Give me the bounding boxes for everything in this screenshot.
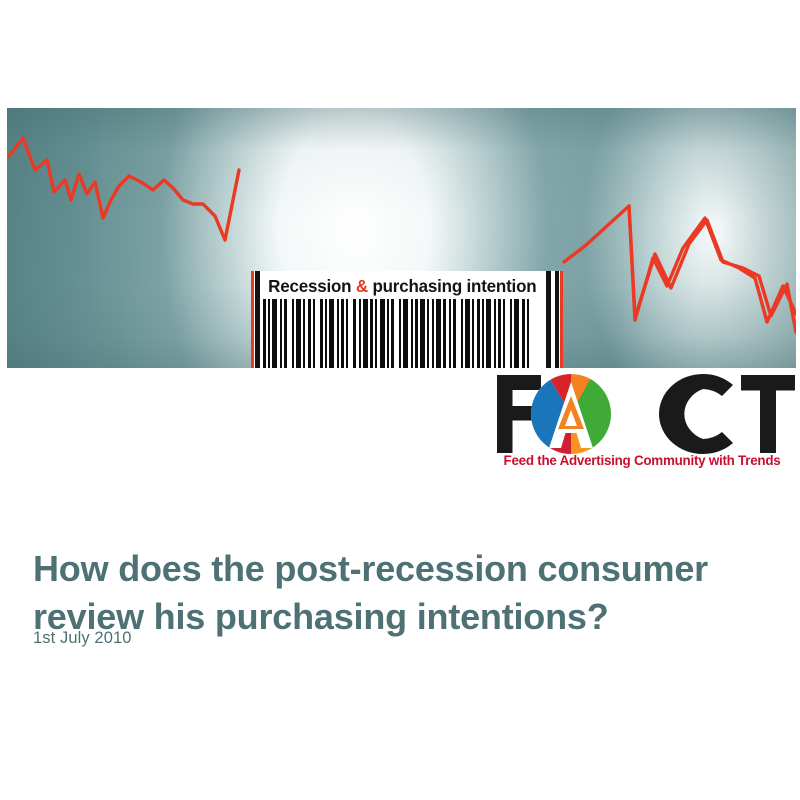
fact-tagline: Feed the Advertising Community with Tren… bbox=[489, 453, 795, 468]
barcode-bar bbox=[341, 299, 344, 368]
barcode-bar bbox=[308, 299, 311, 368]
barcode-bar bbox=[391, 299, 394, 368]
barcode-bar bbox=[337, 299, 339, 368]
line-series-left bbox=[9, 138, 239, 240]
barcode-bar bbox=[477, 299, 480, 368]
headline-line-2: review his purchasing intentions? bbox=[33, 593, 763, 641]
barcode-bar bbox=[359, 299, 361, 368]
barcode-bar bbox=[453, 299, 456, 368]
barcode-bar bbox=[503, 299, 505, 368]
barcode-bar bbox=[346, 299, 348, 368]
barcode-left-red-edge bbox=[251, 271, 254, 368]
barcode-bar bbox=[363, 299, 368, 368]
barcode-bar bbox=[375, 299, 377, 368]
barcode-label: Recession & purchasing intention bbox=[263, 273, 541, 299]
headline-line-1: How does the post-recession consumer bbox=[33, 548, 708, 589]
barcode-guard-bar-right-outer bbox=[546, 271, 551, 368]
barcode-bar bbox=[263, 299, 266, 368]
barcode-bar bbox=[494, 299, 496, 368]
barcode-bar bbox=[296, 299, 301, 368]
barcode-label-after: purchasing intention bbox=[368, 276, 537, 296]
barcode-right-red-edge bbox=[560, 271, 563, 368]
barcode-bar bbox=[284, 299, 287, 368]
logo-letter-a-circle bbox=[531, 374, 611, 454]
barcode-bar bbox=[272, 299, 277, 368]
barcode-label-ampersand: & bbox=[356, 276, 368, 296]
barcode-bar bbox=[465, 299, 470, 368]
fact-wordmark bbox=[489, 370, 795, 456]
barcode-bar bbox=[292, 299, 294, 368]
barcode-bar bbox=[527, 299, 529, 368]
barcode-label-before: Recession bbox=[268, 276, 356, 296]
barcode-bar bbox=[411, 299, 413, 368]
barcode-bar-field bbox=[263, 299, 541, 368]
barcode-bar bbox=[443, 299, 446, 368]
slide-canvas: Recession & purchasing intention bbox=[0, 0, 800, 800]
page-title: How does the post-recession consumer rev… bbox=[33, 545, 763, 641]
barcode-bar bbox=[353, 299, 356, 368]
barcode-bar bbox=[329, 299, 334, 368]
barcode-bar bbox=[436, 299, 441, 368]
barcode-bar bbox=[420, 299, 425, 368]
barcode-bar bbox=[482, 299, 484, 368]
barcode-bar bbox=[399, 299, 401, 368]
barcode-bar bbox=[486, 299, 491, 368]
barcode-bar bbox=[514, 299, 519, 368]
barcode-bar bbox=[432, 299, 434, 368]
barcode-bar bbox=[522, 299, 525, 368]
slide-date: 1st July 2010 bbox=[33, 629, 132, 648]
hero-banner: Recession & purchasing intention bbox=[7, 108, 796, 368]
barcode-bar bbox=[498, 299, 501, 368]
logo-letter-t bbox=[741, 375, 795, 453]
barcode-bar bbox=[320, 299, 323, 368]
barcode-bar bbox=[510, 299, 512, 368]
fact-logo: Feed the Advertising Community with Tren… bbox=[489, 370, 795, 478]
barcode-guard-bar-right-inner bbox=[555, 271, 559, 368]
barcode-bar bbox=[280, 299, 282, 368]
barcode-bar bbox=[387, 299, 389, 368]
line-series-right-tail bbox=[629, 206, 796, 322]
barcode-bar bbox=[415, 299, 418, 368]
barcode-bar bbox=[370, 299, 373, 368]
barcode-bar bbox=[303, 299, 305, 368]
logo-letter-c bbox=[659, 374, 733, 454]
barcode-bar bbox=[325, 299, 327, 368]
line-series-right bbox=[564, 206, 796, 332]
barcode-bar bbox=[449, 299, 451, 368]
barcode-guard-bar-left bbox=[255, 271, 260, 368]
barcode-bar bbox=[427, 299, 429, 368]
barcode-graphic: Recession & purchasing intention bbox=[251, 271, 563, 368]
barcode-bar bbox=[403, 299, 408, 368]
barcode-bar bbox=[472, 299, 474, 368]
barcode-bar bbox=[380, 299, 385, 368]
barcode-bar bbox=[461, 299, 463, 368]
barcode-bar bbox=[313, 299, 315, 368]
barcode-bar bbox=[268, 299, 270, 368]
